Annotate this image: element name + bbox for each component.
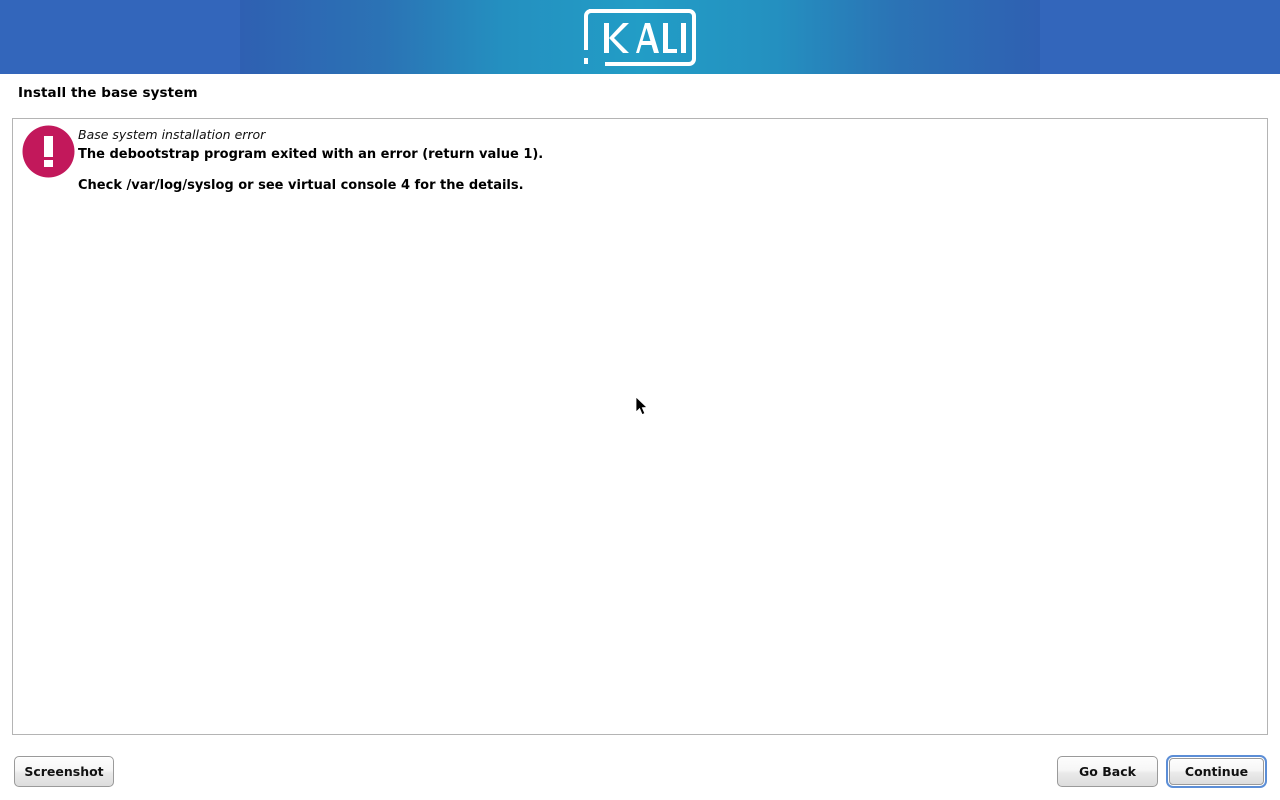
go-back-button[interactable]: Go Back: [1057, 756, 1158, 787]
kali-logo: [583, 8, 697, 67]
error-subtitle: Base system installation error: [78, 127, 1178, 143]
error-text-group: Base system installation error The deboo…: [78, 127, 1178, 196]
screenshot-button[interactable]: Screenshot: [14, 756, 114, 787]
error-message: The debootstrap program exited with an e…: [78, 145, 1178, 165]
page-title: Install the base system: [18, 85, 198, 101]
error-exclamation-icon: [22, 125, 75, 178]
installer-banner: [0, 0, 1280, 74]
continue-button[interactable]: Continue: [1169, 758, 1264, 785]
error-dialog: Base system installation error The deboo…: [13, 119, 1267, 129]
content-panel: Base system installation error The deboo…: [12, 118, 1268, 735]
error-detail: Check /var/log/syslog or see virtual con…: [78, 176, 1178, 196]
